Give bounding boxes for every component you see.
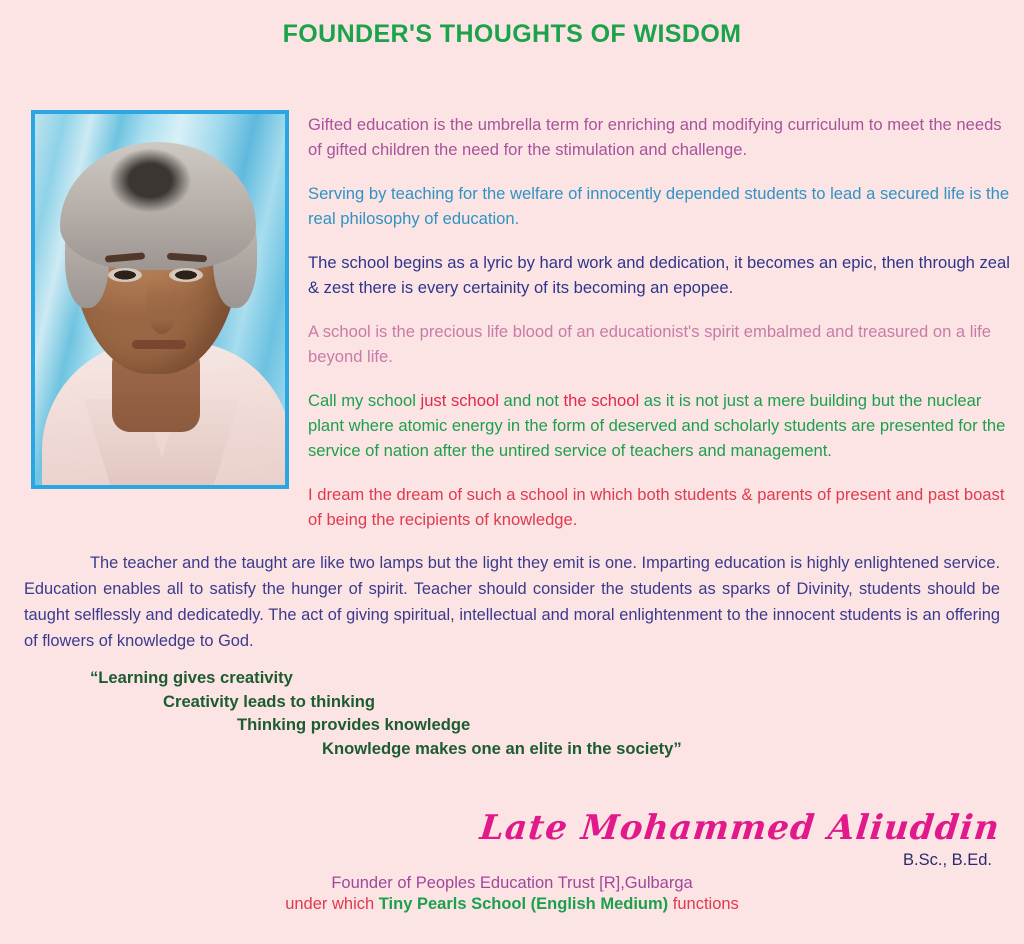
quote-highlight-the-school: the school — [564, 391, 640, 410]
quote-school-begins-as-lyric: The school begins as a lyric by hard wor… — [308, 250, 1018, 300]
staircase-line-4: Knowledge makes one an elite in the soci… — [322, 737, 970, 761]
founder-portrait — [31, 110, 289, 489]
signature-name: Late Mohammed Aliuddin — [0, 808, 1002, 848]
quote-i-dream-the-dream: I dream the dream of such a school in wh… — [308, 482, 1018, 532]
quote-list: Gifted education is the umbrella term fo… — [308, 112, 1018, 532]
school-name: Tiny Pearls School (English Medium) — [379, 895, 668, 913]
teacher-paragraph: The teacher and the taught are like two … — [24, 550, 1000, 654]
page-title: FOUNDER'S THOUGHTS OF WISDOM — [0, 20, 1024, 49]
portrait-eye-right — [169, 268, 203, 282]
signature-school-line: under which Tiny Pearls School (English … — [0, 895, 1024, 914]
staircase-quote: “Learning gives creativity Creativity le… — [90, 666, 970, 760]
portrait-backdrop — [35, 114, 285, 485]
quote-gifted-education: Gifted education is the umbrella term fo… — [308, 112, 1018, 162]
staircase-line-3: Thinking provides knowledge — [237, 713, 970, 737]
staircase-line-1: “Learning gives creativity — [90, 666, 970, 690]
portrait-hair — [60, 142, 256, 270]
portrait-mouth — [132, 340, 186, 349]
quote-highlight-just-school: just school — [421, 391, 499, 410]
quote-precious-life-blood: A school is the precious life blood of a… — [308, 319, 1018, 369]
school-line-prefix: under which — [285, 895, 379, 913]
founder-wisdom-page: FOUNDER'S THOUGHTS OF WISDOM Gifted educ… — [0, 0, 1024, 944]
signature-trust-line: Founder of Peoples Education Trust [R],G… — [0, 874, 1024, 893]
quote-serving-by-teaching: Serving by teaching for the welfare of i… — [308, 181, 1018, 231]
signature-degree: B.Sc., B.Ed. — [0, 851, 992, 870]
quote-segment-part2: and not — [499, 391, 564, 410]
school-line-suffix: functions — [668, 895, 739, 913]
quote-segment-part1: Call my school — [308, 391, 421, 410]
portrait-eye-left — [108, 268, 142, 282]
portrait-nose — [147, 282, 177, 334]
quote-call-my-school: Call my school just school and not the s… — [308, 388, 1018, 463]
staircase-line-2: Creativity leads to thinking — [163, 690, 970, 714]
